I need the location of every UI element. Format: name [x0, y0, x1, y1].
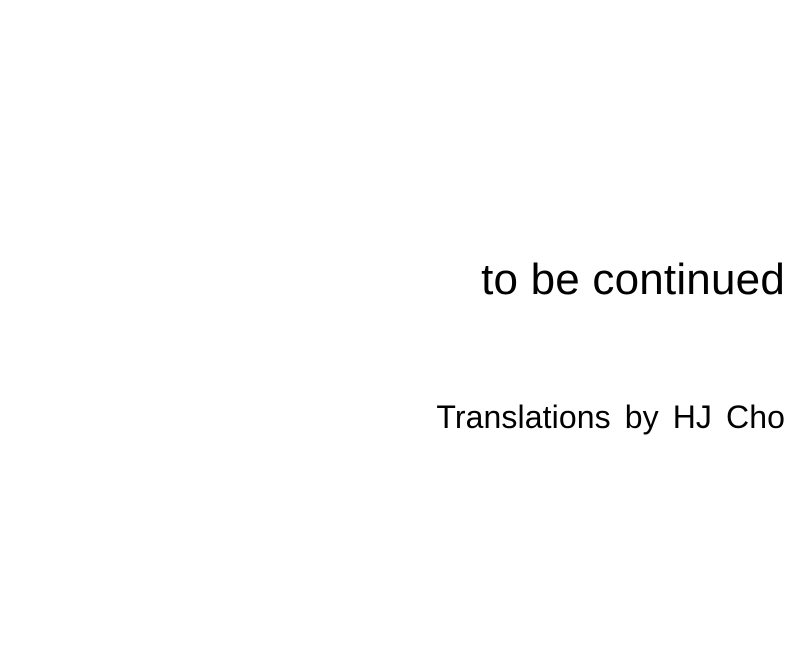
slide-canvas: to be continued Translations by HJ Cho	[0, 0, 800, 646]
headline-text: to be continued	[300, 254, 785, 306]
credit-text: Translations by HJ Cho	[300, 398, 785, 436]
